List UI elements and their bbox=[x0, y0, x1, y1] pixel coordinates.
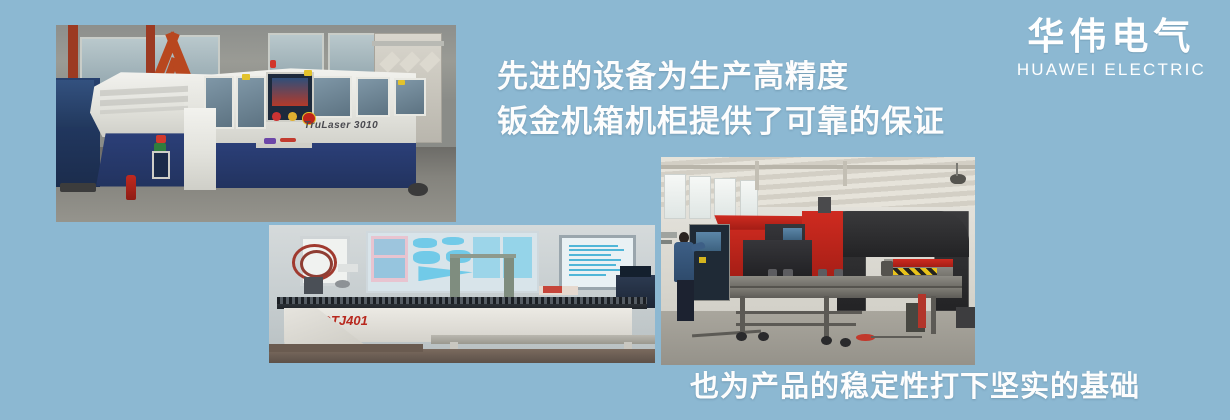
photo-cnc-punch-press bbox=[661, 157, 975, 365]
photo-laser-cutting-machine: TruLaser 3010 bbox=[56, 25, 456, 222]
company-logo: 华伟电气 HUAWEI ELECTRIC bbox=[1017, 18, 1206, 80]
tagline: 也为产品的稳定性打下坚实的基础 bbox=[690, 368, 1140, 406]
headline: 先进的设备为生产高精度 钣金机箱机柜提供了可靠的保证 bbox=[497, 55, 945, 145]
logo-name-cn: 华伟电气 bbox=[1017, 18, 1206, 57]
promo-banner: TruLaser 3010 bbox=[0, 0, 1230, 420]
tagline-line-1: 也为产品的稳定性打下坚实的基础 bbox=[690, 369, 1140, 403]
headline-line-2: 钣金机箱机柜提供了可靠的保证 bbox=[497, 100, 945, 145]
machine-label-trulaser: TruLaser 3010 bbox=[304, 120, 378, 131]
headline-line-1: 先进的设备为生产高精度 bbox=[497, 55, 945, 100]
photo-shearing-machine: HGTJ401 bbox=[269, 225, 655, 363]
logo-name-en: HUAWEI ELECTRIC bbox=[1017, 60, 1206, 80]
